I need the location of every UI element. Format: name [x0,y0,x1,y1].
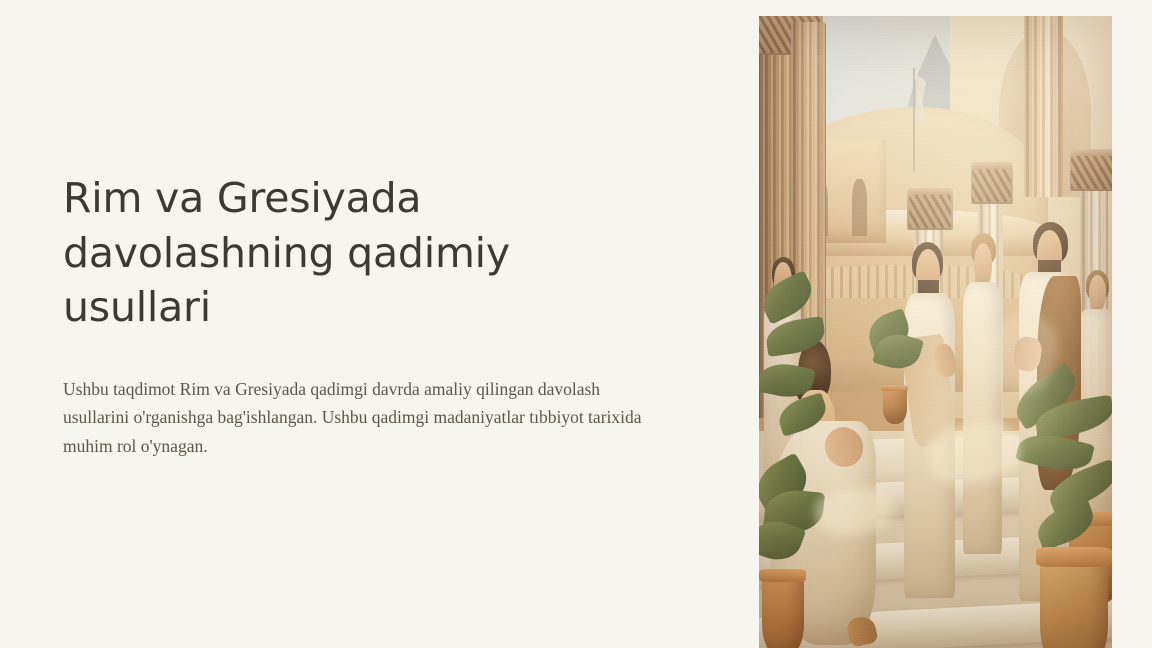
flagpole [913,68,915,172]
foliage-cluster-left [759,262,844,482]
pot-rim [759,569,806,583]
corinthian-capital-right [1070,149,1112,191]
leaf-spray [759,270,818,325]
potted-plant-held [865,314,925,424]
column-upper-right [1024,16,1063,197]
leaf-spray [774,392,830,437]
slide-title: Rim va Gresiyada davolashning qadimiy us… [63,171,583,335]
terracotta-pot [883,387,907,424]
potted-plant-bottom-left [759,463,833,648]
terracotta-urn [1040,552,1108,648]
slide-illustration [759,16,1112,648]
corinthian-capital-center [907,188,953,230]
figure-head [1089,275,1107,311]
urn-rim [1036,547,1112,567]
figure-robe [963,282,1002,554]
pot-rim [881,385,908,391]
corinthian-capital-center-right [971,162,1013,204]
text-content-block: Rim va Gresiyada davolashning qadimiy us… [63,171,655,461]
illustration-scene [759,16,1112,648]
figure-sandal-foot [846,614,879,647]
column-fluting [1024,16,1063,197]
terracotta-pot [762,572,804,648]
background-figure-woman [960,243,1006,567]
slide-root: Rim va Gresiyada davolashning qadimiy us… [0,0,1152,648]
text-panel: Rim va Gresiyada davolashning qadimiy us… [0,0,719,648]
figure-head [974,243,992,285]
terracotta-urn-bottom-right [1027,508,1112,648]
slide-body-text: Ushbu taqdimot Rim va Gresiyada qadimgi … [63,375,655,461]
